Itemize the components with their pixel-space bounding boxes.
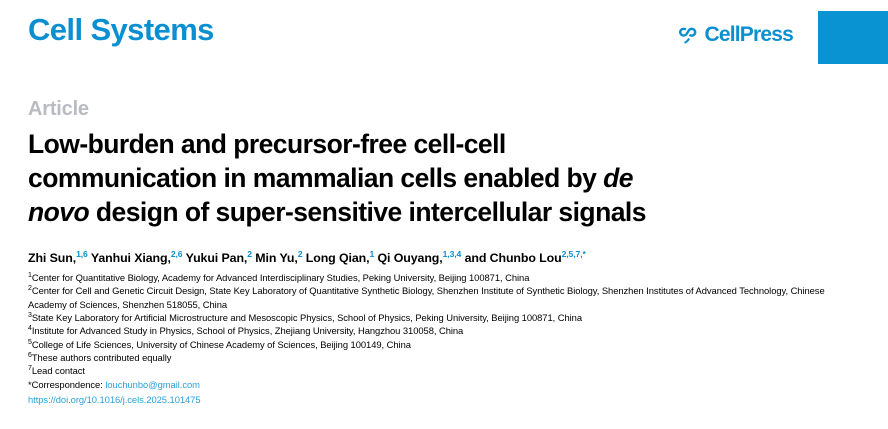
title-italic-de: de xyxy=(603,163,633,193)
author-affiliation-marker: 2 xyxy=(298,249,303,259)
affiliation-text: Center for Cell and Genetic Circuit Desi… xyxy=(28,285,825,309)
author-name[interactable]: and Chunbo Lou xyxy=(465,251,562,265)
author-affiliation-marker: 2,6 xyxy=(171,249,183,259)
author-affiliation-marker: 1,6 xyxy=(76,249,88,259)
article-header: Article Low-burden and precursor-free ce… xyxy=(0,98,888,405)
affiliation-text: Institute for Advanced Study in Physics,… xyxy=(32,325,463,336)
author-name[interactable]: Zhi Sun, xyxy=(28,251,76,265)
masthead: Cell Systems CellPress xyxy=(0,0,888,75)
correspondence-label: *Correspondence: xyxy=(28,379,103,390)
affiliation-item: 5College of Life Sciences, University of… xyxy=(28,338,860,351)
title-line-1: Low-burden and precursor-free cell-cell xyxy=(28,129,506,159)
affiliation-item: 7Lead contact xyxy=(28,364,860,377)
affiliation-text: State Key Laboratory for Artificial Micr… xyxy=(32,312,582,323)
cellpress-wordmark: CellPress xyxy=(704,24,793,45)
affiliation-item: 3State Key Laboratory for Artificial Mic… xyxy=(28,311,860,324)
title-line-2-text: communication in mammalian cells enabled… xyxy=(28,163,603,193)
title-italic-novo: novo xyxy=(28,197,89,227)
corner-color-block xyxy=(818,11,888,64)
author-affiliation-marker: 2 xyxy=(247,249,252,259)
affiliation-text: Center for Quantitative Biology, Academy… xyxy=(32,272,530,283)
affiliation-item: 2Center for Cell and Genetic Circuit Des… xyxy=(28,284,860,311)
page-title: Low-burden and precursor-free cell-cell … xyxy=(28,128,728,230)
author-name[interactable]: Long Qian, xyxy=(306,251,370,265)
title-line-3-text: design of super-sensitive intercellular … xyxy=(89,197,646,227)
author-name[interactable]: Yukui Pan, xyxy=(186,251,248,265)
affiliation-item: 1Center for Quantitative Biology, Academ… xyxy=(28,271,860,284)
affiliation-item: 4Institute for Advanced Study in Physics… xyxy=(28,324,860,337)
journal-title[interactable]: Cell Systems xyxy=(28,14,214,45)
correspondence-line: *Correspondence: louchunbo@gmail.com xyxy=(28,378,860,391)
correspondence-email-link[interactable]: louchunbo@gmail.com xyxy=(105,379,200,390)
author-name[interactable]: Yanhui Xiang, xyxy=(91,251,171,265)
affiliation-item: 6These authors contributed equally xyxy=(28,351,860,364)
author-affiliation-marker: 1 xyxy=(369,249,374,259)
affiliation-text: These authors contributed equally xyxy=(32,352,172,363)
author-affiliation-marker: 1,3,4 xyxy=(443,249,462,259)
affiliation-list: 1Center for Quantitative Biology, Academ… xyxy=(28,271,860,378)
author-name[interactable]: Min Yu, xyxy=(255,251,297,265)
article-type-label: Article xyxy=(28,98,860,120)
author-list: Zhi Sun,1,6 Yanhui Xiang,2,6 Yukui Pan,2… xyxy=(28,250,860,266)
author-affiliation-marker: 2,5,7,* xyxy=(562,249,586,259)
author-name[interactable]: Qi Ouyang, xyxy=(378,251,443,265)
doi-link[interactable]: https://doi.org/10.1016/j.cels.2025.1014… xyxy=(28,394,860,405)
affiliation-text: College of Life Sciences, University of … xyxy=(32,339,411,350)
affiliation-text: Lead contact xyxy=(32,365,85,376)
cellpress-logo[interactable]: CellPress xyxy=(678,24,793,45)
cellpress-swirl-icon xyxy=(678,25,698,45)
